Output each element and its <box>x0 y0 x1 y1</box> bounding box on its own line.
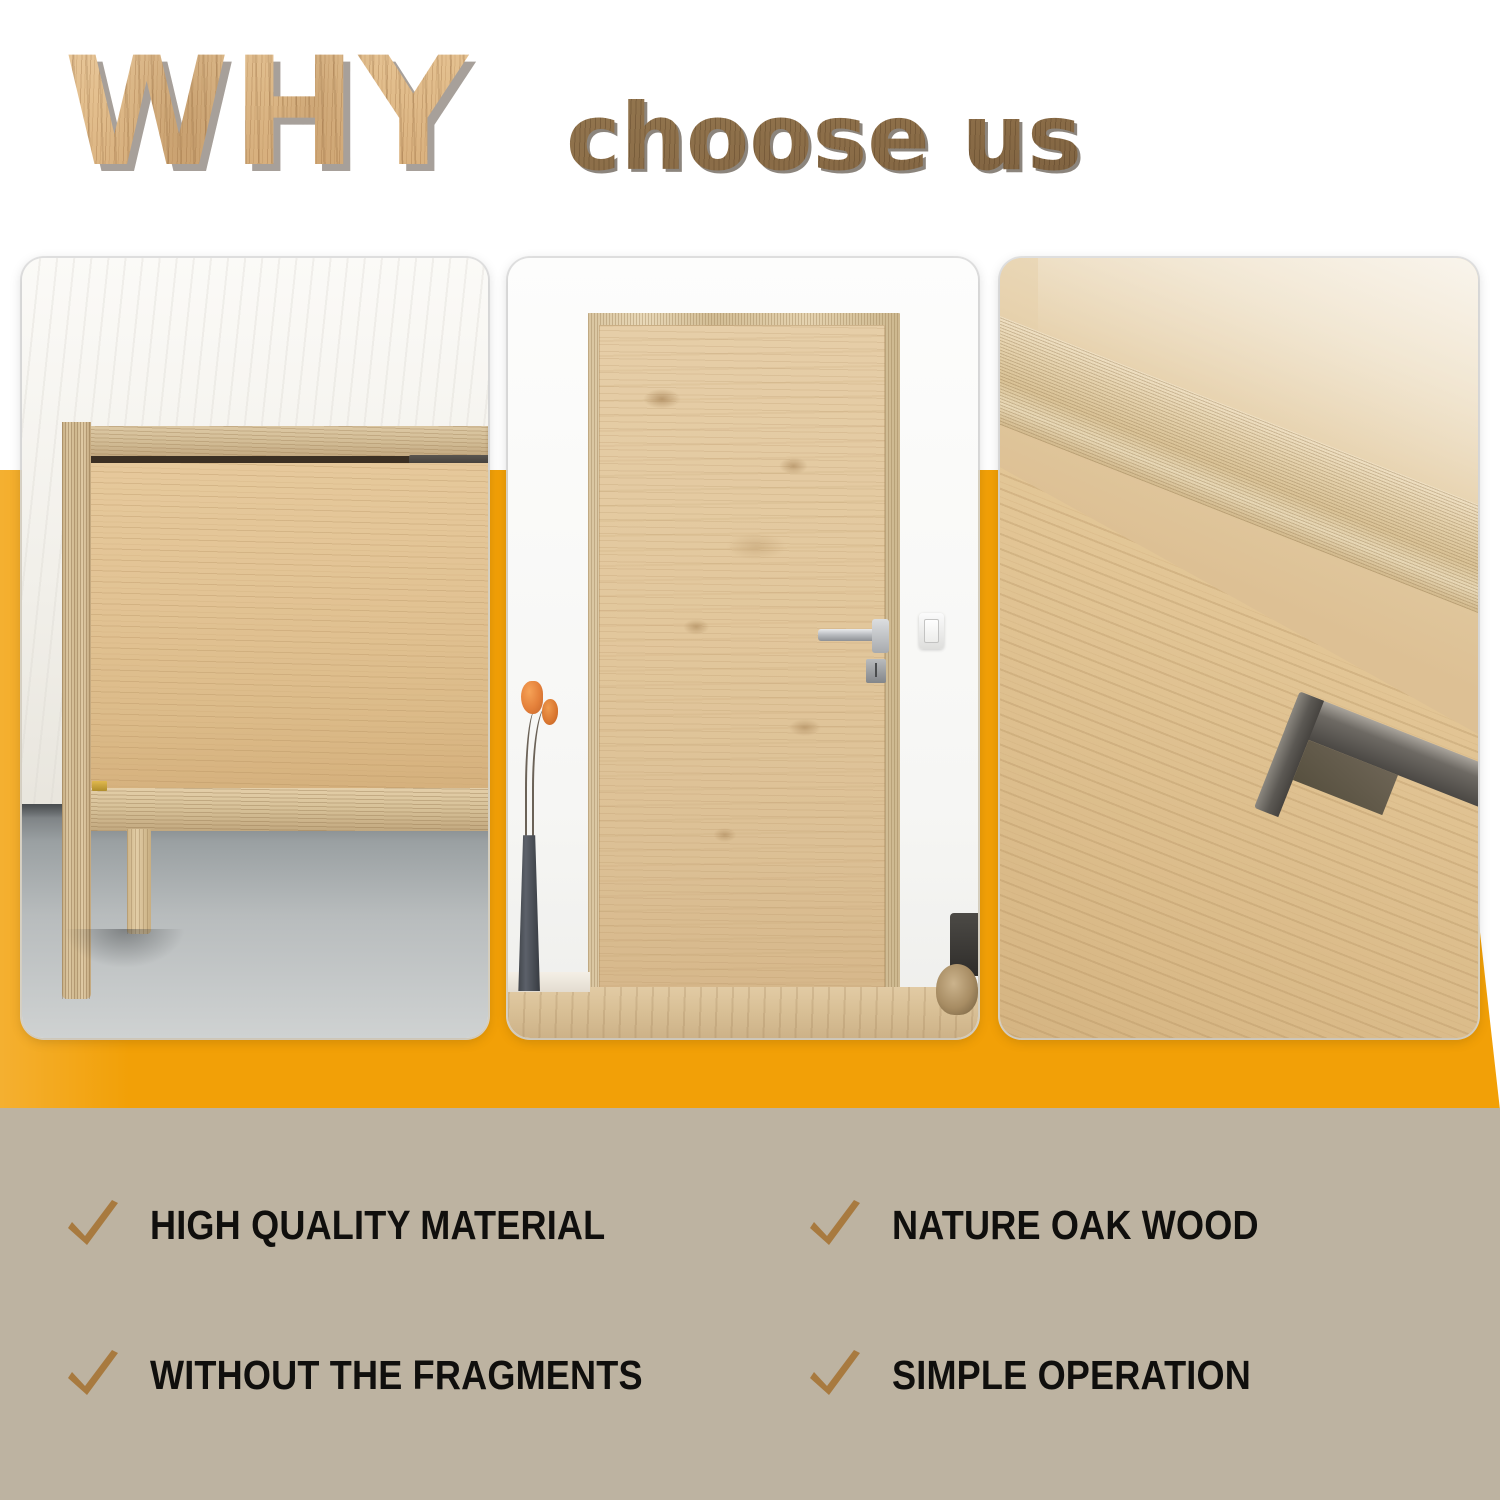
oak-door-leaf <box>599 325 886 996</box>
feature-label: NATURE OAK WOOD <box>892 1202 1259 1249</box>
concrete-floor <box>22 804 488 1038</box>
cabinet-side-stile <box>62 422 92 999</box>
gallery-photo-edge-banding-closeup <box>1000 258 1478 1038</box>
wood-floor <box>508 987 978 1038</box>
infographic-page: WHY choose us <box>0 0 1500 1500</box>
poppy-pod <box>521 681 543 714</box>
dried-stem <box>532 707 556 844</box>
feature-list: HIGH QUALITY MATERIAL NATURE OAK WOOD WI… <box>0 1150 1500 1450</box>
feature-label: HIGH QUALITY MATERIAL <box>150 1202 605 1249</box>
light-switch <box>919 613 943 649</box>
floor-shadow <box>64 929 185 968</box>
check-icon <box>62 1194 124 1256</box>
page-title-secondary: choose us <box>566 92 1082 184</box>
cabinet-door-face <box>90 463 488 791</box>
check-icon <box>804 1344 866 1406</box>
feature-item-nature-oak-wood: NATURE OAK WOOD <box>800 1150 1460 1300</box>
gallery-photo-oak-door <box>508 258 978 1038</box>
handle-rose-plate <box>872 619 889 653</box>
feature-label: SIMPLE OPERATION <box>892 1352 1251 1399</box>
brass-hinge <box>92 781 107 791</box>
page-title-primary: WHY <box>64 38 470 188</box>
feature-item-without-the-fragments: WITHOUT THE FRAGMENTS <box>0 1300 800 1450</box>
cabinet-leg <box>127 829 151 934</box>
check-icon <box>62 1344 124 1406</box>
feature-item-simple-operation: SIMPLE OPERATION <box>800 1300 1460 1450</box>
header: WHY choose us <box>0 0 1500 250</box>
door-lever-handle <box>818 629 879 641</box>
feature-label: WITHOUT THE FRAGMENTS <box>150 1352 643 1399</box>
door-lock-icon <box>866 659 886 683</box>
feature-item-high-quality-material: HIGH QUALITY MATERIAL <box>0 1150 800 1300</box>
check-icon <box>804 1194 866 1256</box>
wood-stump-stool <box>936 964 978 1015</box>
gallery-photo-oak-cabinet <box>22 258 488 1038</box>
cabinet-bottom-rail <box>83 788 488 830</box>
